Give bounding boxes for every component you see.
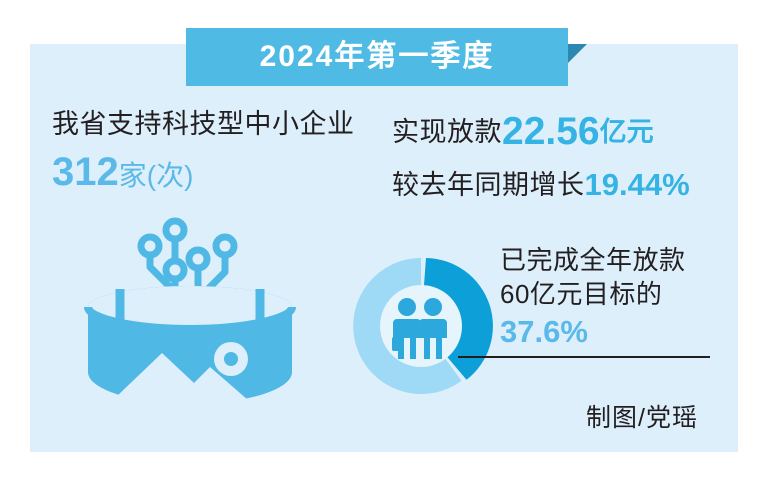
- ribbon-fold-icon: [568, 44, 587, 63]
- caption-divider: [458, 356, 710, 358]
- progress-caption-line2: 60亿元目标的: [500, 277, 686, 311]
- right-stat-unit-1: 亿元: [600, 117, 654, 147]
- progress-caption-line1: 已完成全年放款: [500, 243, 686, 277]
- left-stat-value-row: 312家(次): [52, 148, 355, 196]
- banner-title: 2024年第一季度: [186, 28, 568, 86]
- credit-text: 制图/党瑶: [586, 398, 698, 434]
- right-stat-row-2: 较去年同期增长19.44%: [392, 166, 690, 204]
- right-stat-value-2: 19.44%: [585, 167, 690, 202]
- donut-chart: [348, 253, 494, 399]
- right-stat-label-1: 实现放款: [392, 117, 502, 147]
- left-stat-value: 312: [52, 150, 119, 194]
- left-stat-unit: 家(次): [119, 160, 194, 191]
- tech-vessel-circuit-icon: [70, 212, 310, 417]
- right-stat-block: 实现放款22.56亿元 较去年同期增长19.44%: [392, 108, 690, 203]
- right-stat-label-2: 较去年同期增长: [392, 170, 585, 200]
- progress-percent-value: 37.6%: [500, 312, 686, 353]
- right-stat-row-1: 实现放款22.56亿元: [392, 108, 690, 156]
- banner-ribbon: 2024年第一季度: [186, 28, 568, 86]
- infographic-root: 2024年第一季度 我省支持科技型中小企业 312家(次) 实现放款22.56亿…: [0, 0, 768, 482]
- left-stat-label: 我省支持科技型中小企业: [52, 108, 355, 142]
- right-stat-value-1: 22.56: [502, 110, 600, 153]
- progress-caption-block: 已完成全年放款 60亿元目标的 37.6%: [500, 243, 686, 353]
- left-stat-block: 我省支持科技型中小企业 312家(次): [52, 108, 355, 196]
